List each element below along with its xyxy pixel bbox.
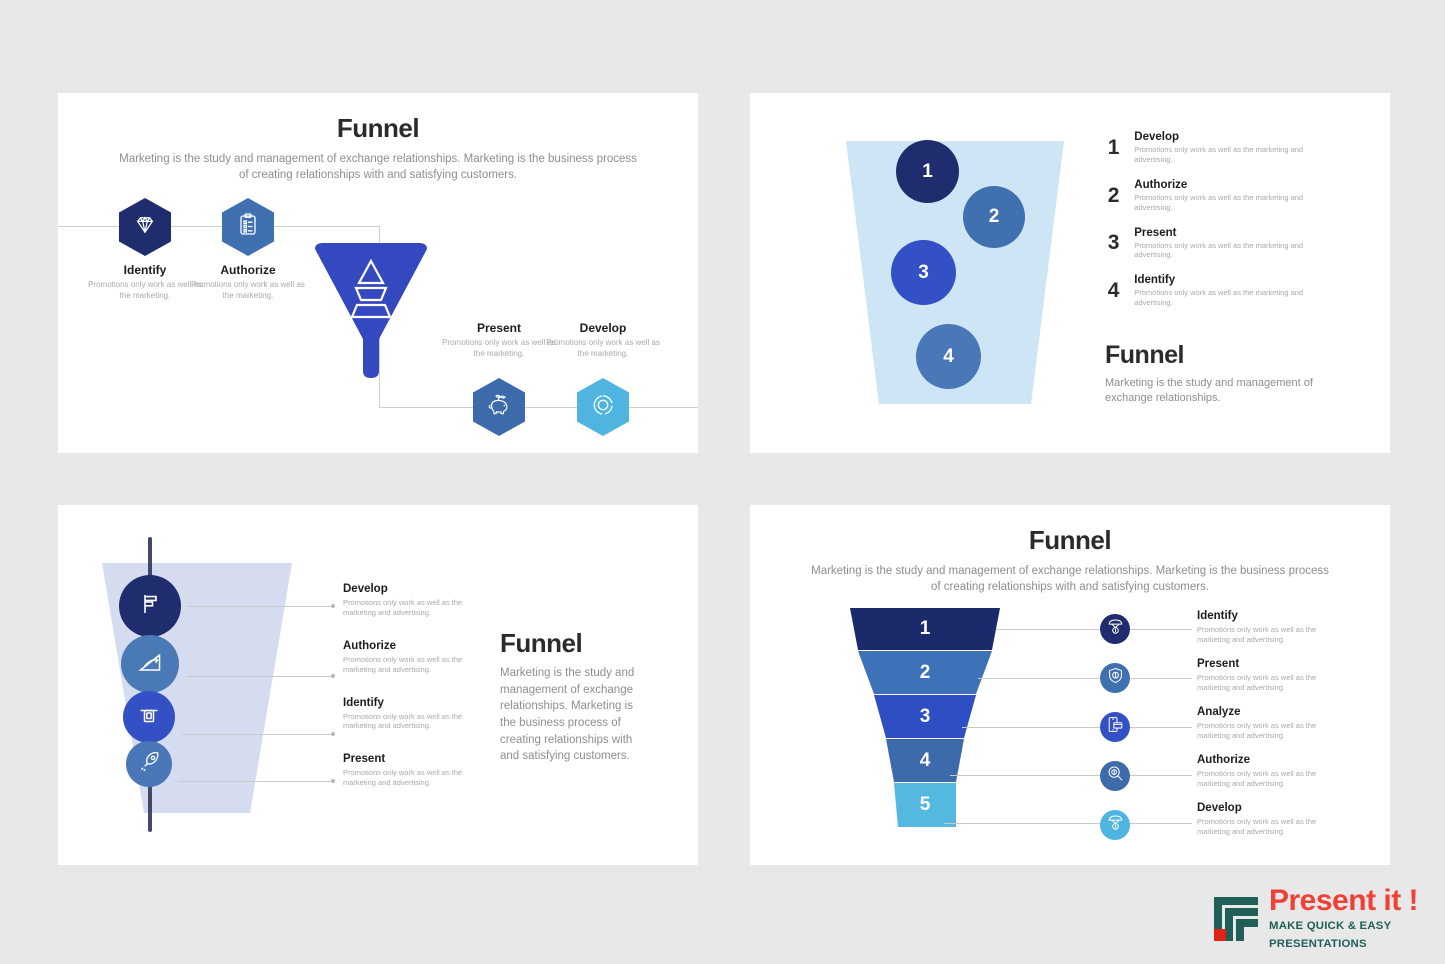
leader-dot	[331, 674, 335, 678]
band-number: 2	[858, 662, 992, 684]
list-item-desc: Promotions only work as well as the mark…	[1197, 721, 1332, 741]
list-item[interactable]: Identify Promotions only work as well as…	[1197, 610, 1332, 658]
list-item[interactable]: 2 Authorize Promotions only work as well…	[1105, 179, 1335, 213]
list-item[interactable]: Present Promotions only work as well as …	[1197, 658, 1332, 706]
step-desc: Promotions only work as well as the mark…	[439, 338, 559, 359]
list-item-desc: Promotions only work as well as the mark…	[1134, 241, 1335, 261]
leader-dot	[331, 779, 335, 783]
leader-line	[188, 606, 333, 607]
leader-line	[186, 676, 333, 677]
list-item-title: Identify	[343, 697, 478, 709]
step-label-develop: Develop Promotions only work as well as …	[543, 321, 663, 359]
list-item[interactable]: Develop Promotions only work as well as …	[343, 583, 478, 618]
list-item-desc: Promotions only work as well as the mark…	[343, 768, 478, 788]
list-item[interactable]: 1 Develop Promotions only work as well a…	[1105, 131, 1335, 165]
step-icon-identify[interactable]	[119, 198, 171, 256]
band-icon-present[interactable]	[1100, 663, 1130, 693]
leader-dot	[331, 732, 335, 736]
connector-line-bottom	[379, 407, 698, 408]
list-item[interactable]: Analyze Promotions only work as well as …	[1197, 706, 1332, 754]
rocket-icon	[139, 751, 160, 777]
page-title: Funnel	[58, 113, 698, 144]
parachute-money-icon	[1107, 814, 1124, 836]
step-icon-authorize[interactable]	[222, 198, 274, 256]
step-icon-develop[interactable]	[577, 378, 629, 436]
list-item-desc: Promotions only work as well as the mark…	[343, 655, 478, 675]
list-item-desc: Promotions only work as well as the mark…	[1197, 817, 1332, 837]
list-item-desc: Promotions only work as well as the mark…	[343, 712, 478, 732]
list-item-title: Present	[343, 753, 478, 765]
bubble-1[interactable]: 1	[896, 140, 959, 203]
step-desc: Promotions only work as well as the mark…	[543, 338, 663, 359]
band-icon-identify[interactable]	[1100, 614, 1130, 644]
leader-line	[178, 781, 333, 782]
leader-line	[182, 734, 333, 735]
slide-funnel-hexagon-timeline: Funnel Marketing is the study and manage…	[58, 93, 698, 453]
stage-icon-present[interactable]	[126, 741, 172, 787]
numbered-list: 1 Develop Promotions only work as well a…	[1105, 131, 1335, 322]
leader-dot	[331, 604, 335, 608]
clipboard-icon	[238, 213, 258, 241]
bubble-4[interactable]: 4	[916, 324, 981, 389]
list-item[interactable]: Authorize Promotions only work as well a…	[1197, 754, 1332, 802]
logo-brand: Present it !	[1269, 884, 1418, 917]
list-item-title: Analyze	[1197, 706, 1332, 718]
list-item-number: 3	[1105, 231, 1122, 255]
list-item-title: Develop	[343, 583, 478, 595]
list-item[interactable]: Authorize Promotions only work as well a…	[343, 640, 478, 675]
list-item-title: Authorize	[343, 640, 478, 652]
magnifier-coin-icon	[1107, 765, 1124, 787]
band-number: 1	[850, 618, 1000, 640]
present-it-logo[interactable]: Present it ! MAKE QUICK & EASY PRESENTAT…	[1212, 886, 1445, 952]
nested-bars-logo-icon	[1212, 895, 1260, 943]
funnel-shape	[311, 243, 431, 378]
step-label-present: Present Promotions only work as well as …	[439, 321, 559, 359]
bubble-number: 1	[922, 161, 933, 183]
band-list: Identify Promotions only work as well as…	[1197, 610, 1332, 850]
slide-deck-page: Funnel Marketing is the study and manage…	[0, 0, 1445, 964]
band-number: 5	[894, 794, 956, 816]
stage-icon-identify[interactable]	[123, 691, 175, 743]
page-subtitle: Marketing is the study and management of…	[500, 665, 650, 765]
band-icon-develop[interactable]	[1100, 810, 1130, 840]
page-subtitle: Marketing is the study and management of…	[750, 564, 1390, 595]
band-number: 3	[874, 706, 976, 728]
piggy-bank-icon	[487, 394, 511, 421]
list-item-desc: Promotions only work as well as the mark…	[1134, 288, 1335, 308]
list-item-title: Authorize	[1134, 179, 1335, 191]
list-item-desc: Promotions only work as well as the mark…	[1134, 193, 1335, 213]
connector-line-top	[317, 226, 380, 227]
band-leader-line	[944, 823, 1192, 824]
band-leader-line	[978, 678, 1192, 679]
stage-icon-develop[interactable]	[119, 575, 181, 637]
list-item-desc: Promotions only work as well as the mark…	[343, 598, 478, 618]
stage-icon-authorize[interactable]	[121, 635, 179, 693]
list-item-desc: Promotions only work as well as the mark…	[1134, 145, 1335, 165]
band-5[interactable]: 5	[894, 783, 956, 827]
band-leader-line	[996, 629, 1192, 630]
step-desc: Promotions only work as well as the mark…	[85, 280, 205, 301]
list-item-number: 4	[1105, 279, 1122, 303]
logo-tagline: MAKE QUICK & EASY PRESENTATIONS	[1269, 920, 1391, 950]
list-item-number: 2	[1105, 184, 1122, 208]
list-item[interactable]: Develop Promotions only work as well as …	[1197, 802, 1332, 850]
step-title: Present	[439, 321, 559, 335]
list-item-title: Develop	[1134, 131, 1335, 143]
step-title: Identify	[85, 263, 205, 277]
parachute-money-icon	[1107, 618, 1124, 640]
bar-chart-flag-icon	[138, 592, 162, 621]
page-subtitle: Marketing is the study and management of…	[1105, 376, 1335, 407]
list-item[interactable]: 4 Identify Promotions only work as well …	[1105, 274, 1335, 308]
step-title: Authorize	[188, 263, 308, 277]
step-title: Develop	[543, 321, 663, 335]
bubble-number: 4	[943, 346, 954, 368]
slide-funnel-vertical-icons: Develop Promotions only work as well as …	[58, 505, 698, 865]
page-title: Funnel	[750, 525, 1390, 556]
list-item-title: Identify	[1134, 274, 1335, 286]
page-title: Funnel	[500, 628, 582, 659]
bubble-3[interactable]: 3	[891, 240, 956, 305]
donut-chart-icon	[591, 393, 615, 422]
growth-arrow-icon	[138, 651, 162, 678]
page-subtitle: Marketing is the study and management of…	[58, 152, 698, 183]
band-3[interactable]: 3	[874, 695, 976, 738]
bubble-number: 2	[989, 206, 1000, 228]
mobile-payment-icon	[1107, 716, 1124, 738]
slide-funnel-bubbles: 1 2 3 4 1 Develop Promotions only work a…	[750, 93, 1390, 453]
band-leader-line	[962, 727, 1192, 728]
list-item-desc: Promotions only work as well as the mark…	[1197, 769, 1332, 789]
slide-funnel-bands: Funnel Marketing is the study and manage…	[750, 505, 1390, 865]
list-item-title: Develop	[1197, 802, 1332, 814]
step-label-identify: Identify Promotions only work as well as…	[85, 263, 205, 301]
band-leader-line	[950, 775, 1192, 776]
band-icon-analyze[interactable]	[1100, 712, 1130, 742]
list-item-number: 1	[1105, 136, 1122, 160]
shield-money-icon	[1107, 667, 1124, 689]
bubble-number: 3	[918, 262, 929, 284]
band-icon-authorize[interactable]	[1100, 761, 1130, 791]
band-2[interactable]: 2	[858, 651, 992, 694]
list-item[interactable]: 3 Present Promotions only work as well a…	[1105, 227, 1335, 261]
list-item-desc: Promotions only work as well as the mark…	[1197, 673, 1332, 693]
list-item-desc: Promotions only work as well as the mark…	[1197, 625, 1332, 645]
page-title: Funnel	[1105, 341, 1184, 370]
connector-line-left	[58, 226, 318, 227]
list-item-title: Present	[1197, 658, 1332, 670]
list-item-title: Present	[1134, 227, 1335, 239]
bubble-2[interactable]: 2	[963, 186, 1025, 248]
list-item-title: Authorize	[1197, 754, 1332, 766]
band-1[interactable]: 1	[850, 608, 1000, 650]
step-icon-present[interactable]	[473, 378, 525, 436]
list-item-title: Identify	[1197, 610, 1332, 622]
step-desc: Promotions only work as well as the mark…	[188, 280, 308, 301]
list-item[interactable]: Identify Promotions only work as well as…	[343, 697, 478, 732]
step-label-authorize: Authorize Promotions only work as well a…	[188, 263, 308, 301]
band-number: 4	[886, 750, 964, 772]
stage-list: Develop Promotions only work as well as …	[343, 583, 478, 810]
diamond-icon	[134, 215, 156, 240]
list-item[interactable]: Present Promotions only work as well as …	[343, 753, 478, 788]
atm-cash-icon	[138, 704, 160, 731]
